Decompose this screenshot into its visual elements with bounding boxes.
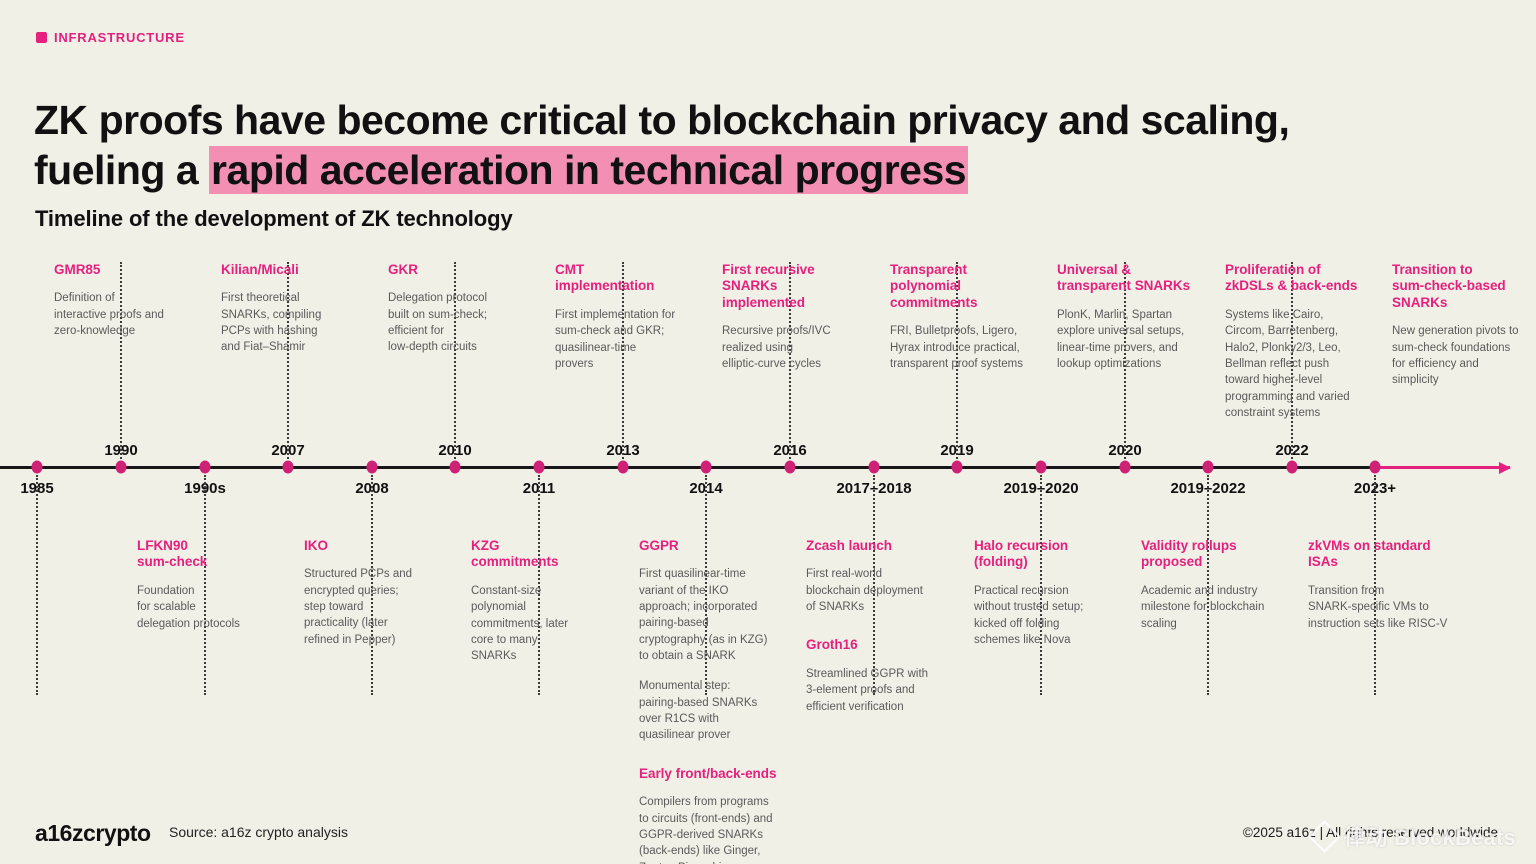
timeline-event-title: LFKN90 sum-check [137,538,275,571]
timeline-event-title: Zcash launch [806,538,954,554]
timeline-event-body: Monumental step: pairing-based SNARKs ov… [639,678,782,743]
timeline-event-subtitle: Early front/back-ends [639,766,782,782]
timeline-tick-dot [116,461,127,474]
source-note: Source: a16z crypto analysis [169,824,348,840]
timeline-event-body: Delegation protocol built on sum-check; … [388,290,541,355]
timeline-event-subtitle: Groth16 [806,637,954,653]
timeline-event-card: Transition to sum-check-based SNARKsNew … [1380,262,1536,389]
timeline-event-card: Universal & transparent SNARKsPlonK, Mar… [1045,262,1217,372]
timeline-event-card: GGPRFirst quasilinear-time variant of th… [627,538,782,864]
timeline-event-card: First recursive SNARKs implementedRecurs… [710,262,875,372]
timeline-event-body: Streamlined GGPR with 3-element proofs a… [806,666,954,715]
timeline-tick-dot [283,461,294,474]
timeline-event-card: zkVMs on standard ISAsTransition from SN… [1296,538,1466,632]
timeline-connector-line [36,475,38,695]
timeline-event-title: GGPR [639,538,782,554]
timeline-event-card: Zcash launchFirst real-world blockchain … [794,538,954,715]
timeline-tick-dot [1370,461,1381,474]
timeline-tick-dot [1287,461,1298,474]
timeline-axis-arrow-icon [1375,466,1510,469]
timeline-event-title: Proliferation of zkDSLs & back-ends [1225,262,1378,295]
timeline-tick-dot [1203,461,1214,474]
timeline-tick-dot [367,461,378,474]
timeline-event-card: Transparent polynomial commitmentsFRI, B… [878,262,1050,372]
timeline-event-body: First quasilinear-time variant of the IK… [639,566,782,664]
timeline-event-card: IKOStructured PCPs and encrypted queries… [292,538,450,648]
timeline-event-title: zkVMs on standard ISAs [1308,538,1466,571]
timeline-event-card: Halo recursion (folding)Practical recurs… [962,538,1117,648]
timeline-event-card: KZG commitmentsConstant-size polynomial … [459,538,609,665]
timeline-event-body: Constant-size polynomial commitments, la… [471,583,609,665]
timeline-tick-dot [534,461,545,474]
timeline-tick-dot [200,461,211,474]
timeline-event-body: Academic and industry milestone for bloc… [1141,583,1291,632]
timeline-tick-dot [701,461,712,474]
timeline-event-body: Definition of interactive proofs and zer… [54,290,202,339]
timeline-event-body: PlonK, Marlin, Spartan explore universal… [1057,307,1217,372]
timeline-event-body: First implementation for sum-check and G… [555,307,711,372]
timeline-event-card: Proliferation of zkDSLs & back-endsSyste… [1213,262,1378,421]
timeline-chart: 198519901990s200720082010201120132014201… [0,0,1536,864]
copyright-note: ©2025 a16z | All rights reserved worldwi… [1243,825,1498,840]
timeline-event-title: GMR85 [54,262,202,278]
timeline-event-body: Practical recursion without trusted setu… [974,583,1117,648]
timeline-event-title: IKO [304,538,450,554]
timeline-event-body: Compilers from programs to circuits (fro… [639,794,782,864]
timeline-event-body: Foundation for scalable delegation proto… [137,583,275,632]
timeline-tick-dot [1120,461,1131,474]
timeline-tick-dot [450,461,461,474]
timeline-tick-dot [1036,461,1047,474]
timeline-event-card: Validity rollups proposedAcademic and in… [1129,538,1291,632]
timeline-event-title: Validity rollups proposed [1141,538,1291,571]
timeline-event-card: Kilian/MicaliFirst theoretical SNARKs, c… [209,262,369,356]
brand-logo: a16zcrypto [35,820,151,847]
timeline-event-body: FRI, Bulletproofs, Ligero, Hyrax introdu… [890,323,1050,372]
infographic-page: INFRASTRUCTURE ZK proofs have become cri… [0,0,1536,864]
timeline-event-card: CMT implementationFirst implementation f… [543,262,711,372]
timeline-event-body: Recursive proofs/IVC realized using elli… [722,323,875,372]
timeline-tick-dot [785,461,796,474]
timeline-event-body: New generation pivots to sum-check found… [1392,323,1536,388]
timeline-event-title: KZG commitments [471,538,609,571]
timeline-event-title: Kilian/Micali [221,262,369,278]
timeline-event-title: Universal & transparent SNARKs [1057,262,1217,295]
timeline-event-title: First recursive SNARKs implemented [722,262,875,311]
timeline-event-body: First theoretical SNARKs, compiling PCPs… [221,290,369,355]
timeline-event-title: Transition to sum-check-based SNARKs [1392,262,1536,311]
timeline-tick-dot [952,461,963,474]
timeline-event-body: Structured PCPs and encrypted queries; s… [304,566,450,648]
timeline-event-title: CMT implementation [555,262,711,295]
timeline-event-card: GMR85Definition of interactive proofs an… [42,262,202,339]
timeline-event-title: GKR [388,262,541,278]
timeline-tick-dot [618,461,629,474]
timeline-event-card: GKRDelegation protocol built on sum-chec… [376,262,541,356]
timeline-event-title: Halo recursion (folding) [974,538,1117,571]
timeline-event-body: Systems like Cairo, Circom, Barretenberg… [1225,307,1378,421]
timeline-event-title: Transparent polynomial commitments [890,262,1050,311]
timeline-tick-dot [32,461,43,474]
timeline-event-card: LFKN90 sum-checkFoundation for scalable … [125,538,275,632]
timeline-event-body: Transition from SNARK-specific VMs to in… [1308,583,1466,632]
timeline-event-body: First real-world blockchain deployment o… [806,566,954,615]
timeline-tick-dot [869,461,880,474]
